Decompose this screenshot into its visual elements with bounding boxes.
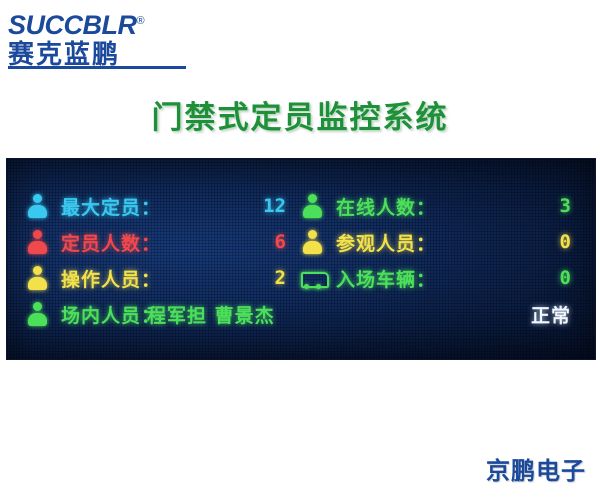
logo-divider bbox=[8, 66, 186, 69]
led-value: 12 bbox=[263, 195, 286, 217]
person-icon bbox=[25, 229, 51, 255]
led-label: 场内人员： bbox=[61, 301, 161, 328]
onsite-personnel-names: 程军担 曹景杰 bbox=[147, 301, 275, 328]
person-icon bbox=[300, 229, 326, 255]
truck-icon bbox=[300, 265, 326, 291]
led-value: 0 bbox=[560, 267, 571, 289]
led-label: 参观人员： bbox=[336, 229, 436, 256]
person-icon bbox=[25, 193, 51, 219]
led-field-max-capacity: 最大定员： 12 bbox=[25, 189, 300, 223]
status-badge: 正常 bbox=[531, 301, 571, 328]
company-logo: SUCCBLR® 赛克蓝鹏 bbox=[8, 6, 228, 68]
led-row: 最大定员： 12 在线人数： 3 bbox=[25, 189, 577, 223]
person-icon bbox=[25, 301, 51, 327]
footer-brand-label: 京鹏电子 bbox=[486, 451, 586, 486]
led-label: 入场车辆： bbox=[336, 265, 436, 292]
led-display-panel: 最大定员： 12 在线人数： 3 定员人数： 6 参观人员： 0 bbox=[6, 158, 596, 360]
led-label: 在线人数： bbox=[336, 193, 436, 220]
led-row-onsite-personnel: 场内人员： 程军担 曹景杰 正常 bbox=[25, 297, 577, 331]
led-value: 3 bbox=[560, 195, 571, 217]
led-field-online-count: 在线人数： 3 bbox=[300, 189, 577, 223]
led-row: 定员人数： 6 参观人员： 0 bbox=[25, 225, 577, 259]
led-label: 定员人数： bbox=[61, 229, 161, 256]
person-icon bbox=[300, 193, 326, 219]
registered-trademark-icon: ® bbox=[137, 15, 145, 27]
led-value: 0 bbox=[560, 231, 571, 253]
led-field-staff-quota: 定员人数： 6 bbox=[25, 225, 300, 259]
led-field-operators: 操作人员： 2 bbox=[25, 261, 300, 295]
led-label: 最大定员： bbox=[61, 193, 161, 220]
person-icon bbox=[25, 265, 51, 291]
logo-latin-text: SUCCBLR® bbox=[8, 6, 228, 40]
led-value: 6 bbox=[275, 231, 286, 253]
page-title: 门禁式定员监控系统 bbox=[0, 92, 600, 137]
led-field-visitors: 参观人员： 0 bbox=[300, 225, 577, 259]
led-value: 2 bbox=[275, 267, 286, 289]
led-label: 操作人员： bbox=[61, 265, 161, 292]
logo-latin-label: SUCCBLR bbox=[8, 10, 137, 40]
led-row: 操作人员： 2 入场车辆： 0 bbox=[25, 261, 577, 295]
led-field-vehicles: 入场车辆： 0 bbox=[300, 261, 577, 295]
led-content: 最大定员： 12 在线人数： 3 定员人数： 6 参观人员： 0 bbox=[25, 189, 577, 337]
